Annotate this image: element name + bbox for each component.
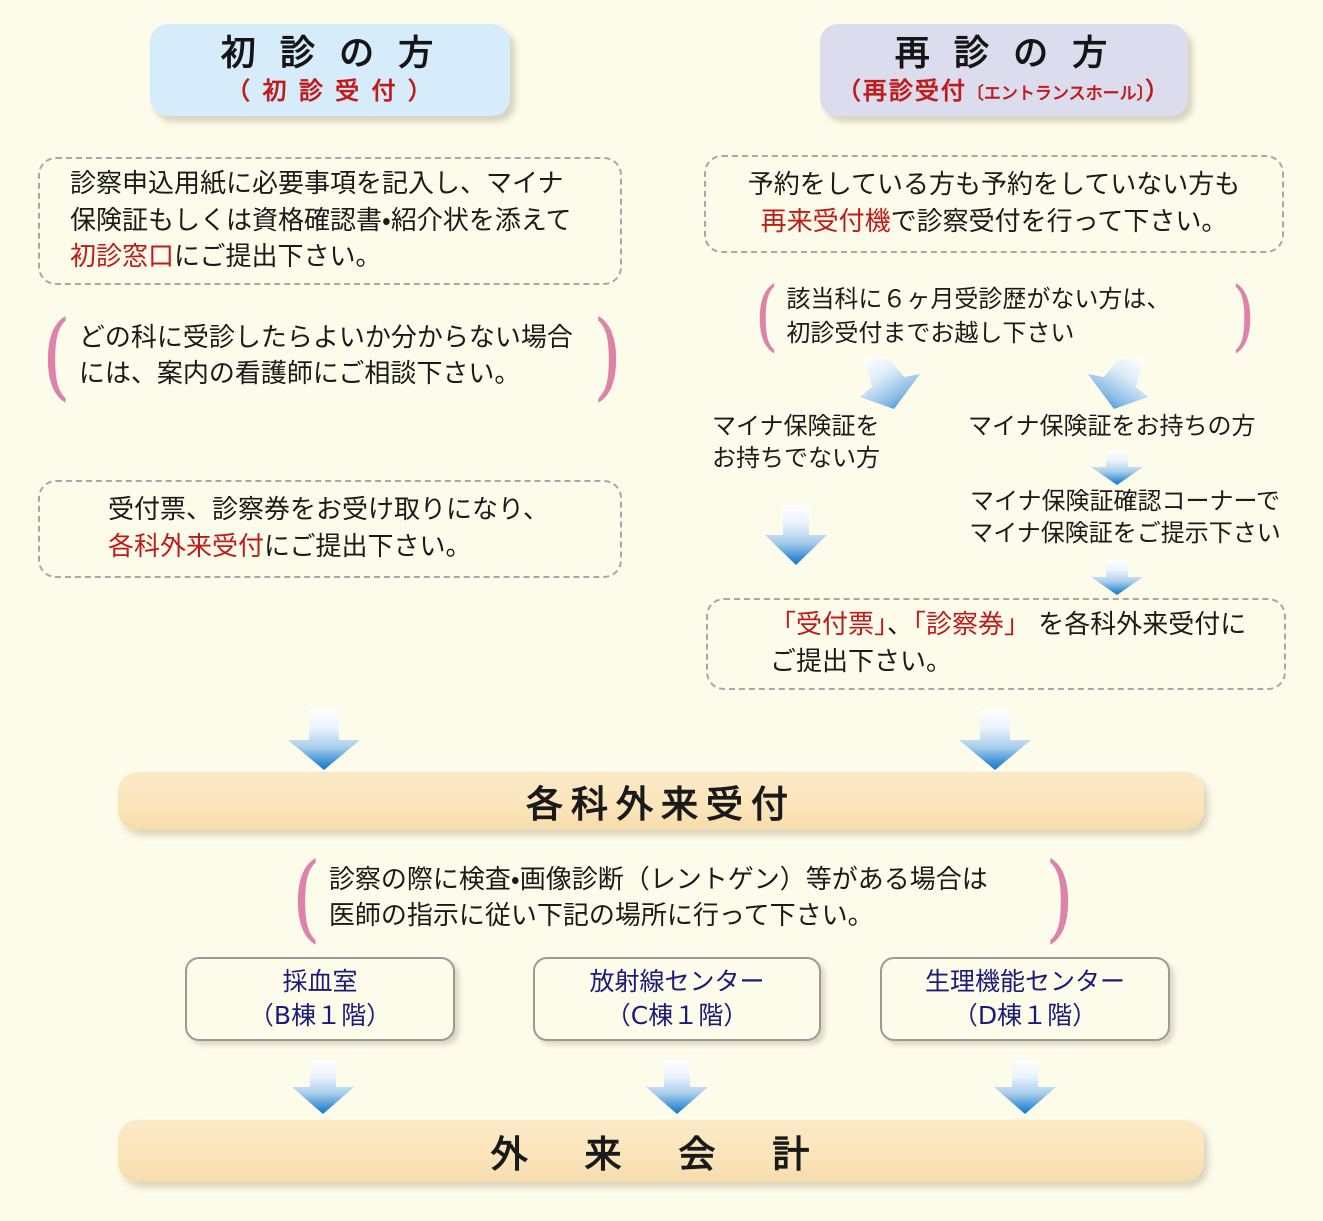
note-line: どの科に受診したらよいか分からない場合: [79, 320, 585, 356]
paren-close: ): [1232, 286, 1255, 349]
arrow-down-icon: [989, 1060, 1061, 1116]
note-line: には、案内の看護師にご相談下さい。: [79, 356, 585, 392]
bar-outpatient-accounting-label: 外 来 会 計: [491, 1124, 832, 1178]
paren-open: (: [755, 286, 778, 349]
dept-box-radiology-center[interactable]: 放射線センター （C棟１階）: [533, 957, 821, 1041]
branch-label-has-mynumber-card: マイナ保険証をお持ちの方: [968, 410, 1298, 442]
paren-note-body: どの科に受診したらよいか分からない場合 には、案内の看護師にご相談下さい。: [71, 320, 593, 393]
header-first-visit-subtitle: （ 初 診 受 付 ）: [226, 77, 434, 106]
note-revisit-six-months: ( 該当科に６ヶ月受診歴がない方は、 初診受付までお越し下さい ): [755, 278, 1255, 356]
note-line: 初診受付までお越し下さい: [786, 317, 1223, 351]
note-line: 医師の指示に従い下記の場所に行って下さい。: [329, 898, 1037, 934]
note-emphasis-receipt-slip: 「受付票」: [770, 610, 887, 640]
paren-open: (: [42, 317, 71, 395]
bar-outpatient-accounting: 外 来 会 計: [118, 1120, 1204, 1182]
header-first-visit-title: 初 診 の 方: [221, 34, 440, 75]
header-revisit: 再 診 の 方 （再診受付〔エントランスホール〕）: [820, 24, 1188, 116]
note-line: 予約をしている方も予約をしていない方も: [720, 167, 1268, 204]
note-emphasis-first-visit-window: 初診窓口: [70, 242, 174, 272]
note-revisit-machine: 予約をしている方も予約をしていない方も 再来受付機で診察受付を行って下さい。: [704, 155, 1284, 253]
note-line: 診察の際に検査・画像診断（レントゲン）等がある場合は: [329, 862, 1037, 898]
header-revisit-subtitle-a: （再診受付: [837, 77, 967, 105]
branch-line: マイナ保険証をお持ちの方: [968, 410, 1298, 442]
note-line: 診察申込用紙に必要事項を記入し、マイナ: [70, 166, 606, 203]
note-line: マイナ保険証確認コーナーで: [945, 485, 1305, 517]
bar-department-reception: 各科外来受付: [118, 772, 1204, 830]
note-line: マイナ保険証をご提示下さい: [945, 517, 1305, 549]
note-line: 受付票、診察券をお受け取りになり、: [108, 492, 606, 529]
paren-close: ): [593, 317, 622, 395]
header-revisit-title: 再 診 の 方: [895, 34, 1114, 75]
note-emphasis-patient-card: 「診察券」: [913, 610, 1030, 640]
arrow-down-icon: [953, 710, 1037, 772]
note-mynumber-confirmation-corner: マイナ保険証確認コーナーで マイナ保険証をご提示下さい: [945, 485, 1305, 549]
note-line: 保険証もしくは資格確認書・紹介状を添えて: [70, 203, 606, 240]
arrow-down-icon: [1087, 560, 1147, 596]
branch-line: お持ちでない方: [712, 442, 952, 474]
dept-name: 放射線センター: [589, 965, 764, 999]
header-revisit-subtitle: （再診受付〔エントランスホール〕）: [837, 77, 1171, 106]
note-line: 初診窓口にご提出下さい。: [70, 239, 606, 276]
note-line-rest: にご提出下さい。: [174, 242, 381, 272]
note-first-visit-receipt: 受付票、診察券をお受け取りになり、 各科外来受付にご提出下さい。: [38, 480, 622, 578]
header-revisit-subtitle-c: ）: [1145, 77, 1171, 105]
note-line: 該当科に６ヶ月受診歴がない方は、: [786, 283, 1223, 317]
note-line: ご提出下さい。: [770, 644, 1270, 681]
header-first-visit: 初 診 の 方 （ 初 診 受 付 ）: [150, 24, 510, 116]
dept-box-blood-collection[interactable]: 採血室 （B棟１階）: [185, 957, 455, 1041]
note-line: 「受付票」、「診察券」 を各科外来受付に: [770, 607, 1270, 644]
dept-location: （D棟１階）: [953, 999, 1097, 1033]
arrow-down-icon: [641, 1060, 713, 1116]
bar-department-reception-label: 各科外来受付: [526, 774, 796, 828]
dept-location: （B棟１階）: [249, 999, 391, 1033]
dept-box-physiology-center[interactable]: 生理機能センター （D棟１階）: [880, 957, 1170, 1041]
note-exam-instructions: ( 診察の際に検査・画像診断（レントゲン）等がある場合は 医師の指示に従い下記の…: [292, 858, 1074, 938]
note-line: 再来受付機で診察受付を行って下さい。: [720, 204, 1268, 241]
arrow-splay-right-icon: [1082, 357, 1158, 411]
flowchart-canvas: 初 診 の 方 （ 初 診 受 付 ） 診察申込用紙に必要事項を記入し、マイナ …: [0, 0, 1323, 1221]
arrow-down-icon: [282, 710, 366, 772]
paren-note-body: 該当科に６ヶ月受診歴がない方は、 初診受付までお越し下さい: [778, 283, 1231, 350]
paren-close: ): [1045, 859, 1074, 937]
note-emphasis-department-reception: 各科外来受付: [108, 532, 264, 562]
dept-name: 生理機能センター: [925, 965, 1125, 999]
note-first-visit-application: 診察申込用紙に必要事項を記入し、マイナ 保険証もしくは資格確認書・紹介状を添えて…: [38, 157, 622, 285]
arrow-down-icon: [1087, 450, 1147, 486]
note-first-visit-unsure-department: ( どの科に受診したらよいか分からない場合 には、案内の看護師にご相談下さい。 …: [42, 316, 622, 396]
arrow-down-icon: [760, 505, 832, 567]
header-revisit-subtitle-hall: 〔エントランスホール〕: [967, 84, 1145, 104]
paren-open: (: [292, 859, 321, 937]
branch-label-no-mynumber-card: マイナ保険証を お持ちでない方: [712, 410, 952, 474]
note-line-rest: にご提出下さい。: [264, 532, 471, 562]
paren-note-body: 診察の際に検査・画像診断（レントゲン）等がある場合は 医師の指示に従い下記の場所…: [321, 862, 1045, 935]
note-revisit-submit-documents: 「受付票」、「診察券」 を各科外来受付に ご提出下さい。: [706, 598, 1286, 690]
arrow-splay-left-icon: [850, 357, 926, 411]
note-line-rest: で診察受付を行って下さい。: [891, 207, 1228, 237]
arrow-down-icon: [287, 1060, 359, 1116]
dept-name: 採血室: [282, 965, 357, 999]
dept-location: （C棟１階）: [606, 999, 748, 1033]
note-line: 各科外来受付にご提出下さい。: [108, 529, 606, 566]
note-line-rest: を各科外来受付に: [1030, 610, 1246, 640]
branch-line: マイナ保険証を: [712, 410, 952, 442]
note-separator: 、: [887, 610, 913, 640]
note-emphasis-revisit-machine: 再来受付機: [761, 207, 891, 237]
